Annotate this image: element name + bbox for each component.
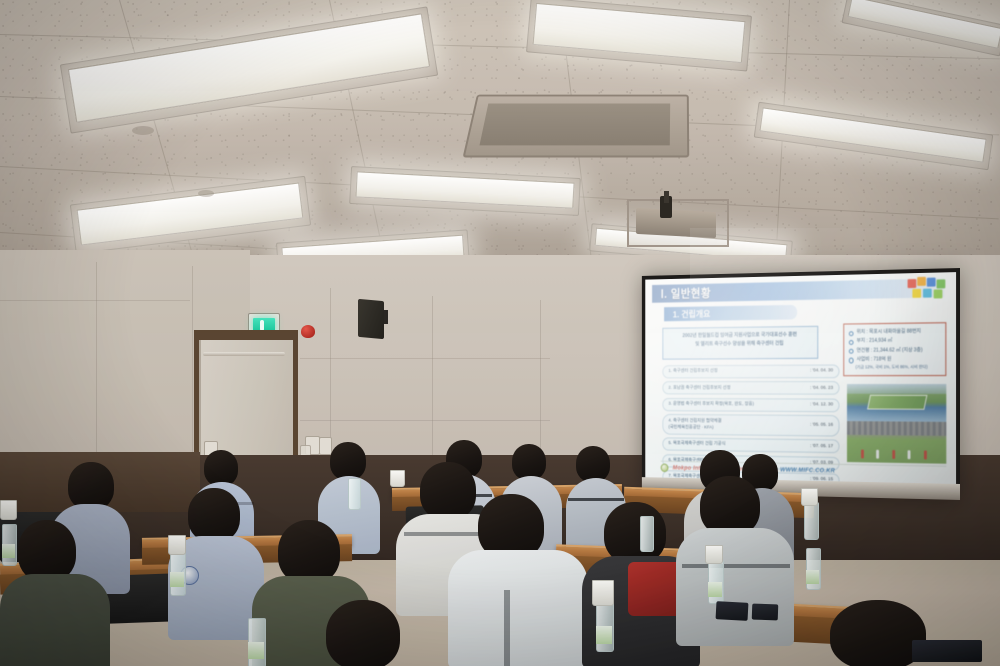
torso — [448, 550, 588, 666]
timeline-row-label: 4. 축구센터 건립지원 협약체결 (국민체육진흥공단 · KFA) — [668, 418, 721, 432]
meeting-room-photo: Ⅰ. 일반현황 1. 건립개요 2002년 한일월드컵 잉여금 지원사업으로 국… — [0, 0, 1000, 666]
photo-stands — [847, 421, 946, 436]
soccer-match-photo — [847, 421, 946, 464]
soccer-ball-icon — [661, 464, 669, 473]
paper-cup[interactable] — [592, 580, 614, 606]
logo-block-red — [908, 279, 917, 288]
timeline-row-label: 1. 축구센터 건립후보지 선정 — [668, 368, 717, 375]
info-row: 사업비 : 718억 원 — [849, 355, 941, 365]
slide-subtitle: 1. 건립개요 — [664, 305, 797, 321]
jacket-stripe — [504, 590, 510, 666]
ac-vent-grille — [479, 104, 670, 146]
intro-line-2: 및 엘리트 축구선수 양성을 위해 축구센터 건립 — [668, 339, 813, 349]
wall-panel-seam — [300, 358, 550, 359]
fire-alarm-bell-icon — [301, 325, 315, 338]
timeline-row: 1. 축구센터 건립후보지 선정: '04. 04. 30 — [662, 365, 839, 379]
timeline-row-label: 2. 호남권 축구센터 건립후보지 선정 — [668, 385, 730, 392]
bullet-ring-icon — [849, 340, 854, 345]
info-row-text: 연건평 : 21,344.62 ㎡ (지상 3층) — [857, 346, 923, 356]
wall-panel-seam — [300, 420, 550, 421]
head — [700, 476, 760, 536]
info-row-text: 위치 : 목포시 내화마을길 88번지 — [857, 327, 921, 337]
notebook[interactable] — [912, 640, 982, 662]
timeline-row-date: : '05. 05. 16 — [806, 423, 833, 428]
head — [576, 446, 610, 482]
photo-hills — [847, 384, 946, 394]
head — [188, 488, 240, 542]
paper-cup[interactable] — [168, 535, 186, 555]
photo-pitch — [867, 395, 928, 410]
timeline-row: 2. 호남권 축구센터 건립후보지 선정: '04. 06. 23 — [662, 382, 839, 396]
timeline-row-label: 3. 운영법 축구센터 후보지 확정(목포, 완도, 장흥) — [668, 401, 754, 408]
jacket-stripe — [682, 564, 790, 568]
paper-cup[interactable] — [390, 470, 405, 487]
summary-info-box: 위치 : 목포시 내화마을길 88번지부지 : 214,934 ㎡연건평 : 2… — [843, 322, 946, 376]
organization-logo — [908, 276, 949, 299]
bullet-ring-icon — [849, 349, 854, 354]
door-push-bar[interactable] — [203, 352, 285, 356]
timeline-row-label: 5. 목포국제축구센터 건립 기공식 — [668, 441, 725, 449]
bottle-label — [806, 570, 819, 584]
timeline-row: 3. 운영법 축구센터 후보지 확정(목포, 완도, 장흥): '04. 12.… — [662, 398, 839, 412]
paper-cup[interactable] — [801, 488, 818, 506]
logo-block-cyan — [923, 289, 932, 298]
smoke-detector-icon — [132, 126, 154, 135]
audience-member — [448, 494, 588, 666]
smoke-detector-icon — [198, 190, 214, 197]
water-bottle[interactable] — [804, 502, 819, 540]
paper-cup[interactable] — [705, 545, 723, 564]
timeline-row-date: : '04. 04. 30 — [806, 369, 833, 374]
bullet-ring-icon — [849, 331, 854, 336]
photo-player — [892, 450, 895, 459]
bottle-label — [596, 626, 612, 644]
wallet[interactable] — [716, 601, 749, 621]
head — [326, 600, 400, 666]
photo-player — [861, 450, 864, 459]
bullet-ring-icon — [849, 358, 854, 363]
wall-panel-seam — [0, 300, 190, 301]
info-note: (기금 12%, 국비 1%, 도비 86%, 시비 한다) — [849, 364, 941, 371]
logo-block-lime — [934, 289, 943, 298]
head — [278, 520, 340, 584]
info-row-text: 사업비 : 718억 원 — [857, 355, 892, 364]
head — [68, 462, 114, 510]
timeline-row-date: : '07. 05. 17 — [806, 444, 833, 449]
timeline-row-date: : '04. 12. 30 — [806, 403, 833, 408]
aerial-stadium-photo — [847, 384, 946, 422]
bottle-label — [248, 642, 264, 659]
logo-block-yellow — [912, 289, 921, 298]
photo-player — [908, 450, 911, 459]
water-bottle[interactable] — [640, 516, 654, 552]
projector-icon — [636, 208, 716, 238]
photo-player — [924, 450, 927, 459]
torso — [676, 528, 794, 646]
bottle-label — [708, 582, 722, 597]
head — [330, 442, 366, 480]
head — [18, 520, 76, 582]
wall-speaker-icon — [358, 299, 384, 339]
slide-intro-box: 2002년 한일월드컵 잉여금 지원사업으로 국가대표선수 훈련 및 엘리트 축… — [662, 326, 818, 360]
timeline-row-date: : '04. 06. 23 — [806, 386, 833, 391]
running-man-icon — [260, 320, 264, 331]
head — [204, 450, 238, 486]
bottle-label — [170, 572, 184, 587]
paper-cup[interactable] — [0, 500, 17, 520]
water-bottle[interactable] — [348, 478, 361, 510]
audience-member — [290, 600, 440, 666]
logo-block-orange — [917, 277, 926, 286]
slide-title: Ⅰ. 일반현황 — [652, 278, 944, 302]
info-row-text: 부지 : 214,934 ㎡ — [857, 337, 893, 346]
head — [512, 444, 546, 480]
logo-block-blue — [927, 278, 936, 287]
bottle-label — [2, 544, 15, 558]
logo-block-green — [937, 279, 946, 288]
head — [604, 502, 666, 564]
phone[interactable] — [752, 604, 779, 621]
projector-mount — [664, 191, 669, 203]
timeline-row: 4. 축구센터 건립지원 협약체결 (국민체육진흥공단 · KFA): '05.… — [662, 414, 839, 436]
photo-player — [876, 450, 879, 459]
torso — [0, 574, 110, 666]
audience-member — [676, 476, 794, 646]
